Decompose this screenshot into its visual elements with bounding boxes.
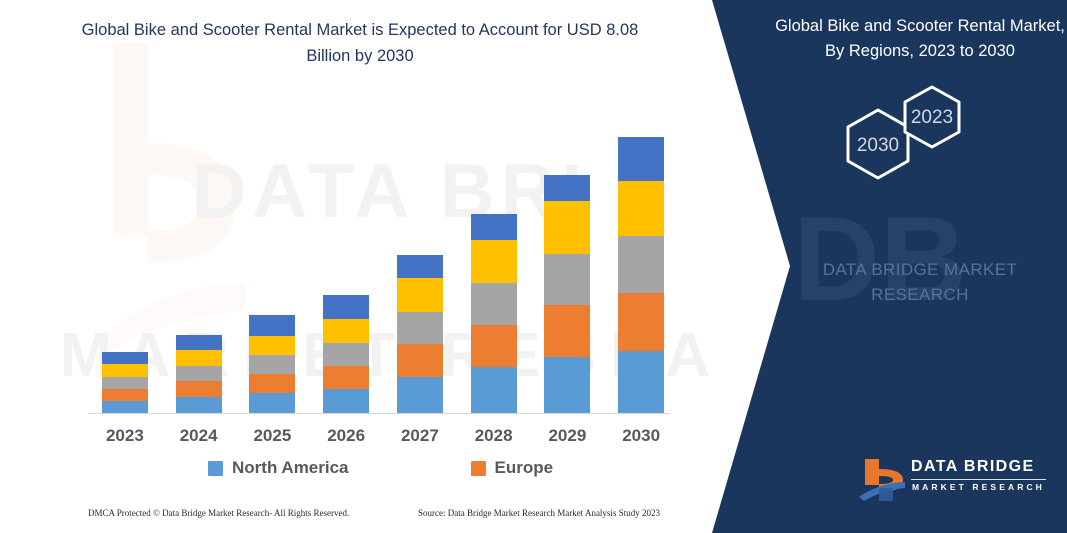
bar-segment [176,335,222,350]
bar-segment [544,175,590,201]
stacked-bar-group [88,120,678,413]
bar-segment [544,201,590,254]
x-axis-label-2028: 2028 [458,426,530,446]
stacked-bar [323,295,369,413]
bar-column-2030 [605,120,677,413]
stacked-bar [471,214,517,413]
bar-column-2025 [236,120,308,413]
x-axis-label-2029: 2029 [531,426,603,446]
right-panel-content: Global Bike and Scooter Rental Market, B… [780,0,1067,533]
bar-segment [176,366,222,381]
stacked-bar [102,352,148,413]
x-axis-label-2027: 2027 [384,426,456,446]
bar-segment [471,240,517,283]
right-panel-title: Global Bike and Scooter Rental Market, B… [775,14,1065,64]
hexagon-2023-label: 2023 [911,107,953,128]
x-axis-label-2030: 2030 [605,426,677,446]
infographic-canvas: DATA BRI MARKET RESEARCH Global Bike and… [0,0,1067,533]
bar-segment [102,389,148,401]
bar-segment [618,181,664,236]
bar-segment [323,389,369,413]
bar-column-2027 [384,120,456,413]
bar-segment [397,344,443,377]
hexagon-2030-label: 2030 [857,135,899,156]
bar-segment [323,343,369,366]
bar-segment [249,374,295,393]
x-axis-label-2023: 2023 [89,426,161,446]
brand-logo-divider [911,479,1046,480]
bar-segment [323,319,369,343]
bar-segment [544,305,590,357]
bar-segment [544,357,590,413]
bar-segment [618,137,664,181]
bar-column-2028 [458,120,530,413]
hexagon-badges: 2030 2023 [800,85,1050,210]
bar-segment [618,351,664,413]
bar-segment [618,293,664,351]
stacked-bar [618,137,664,413]
stacked-bar [544,175,590,413]
x-axis-label-2025: 2025 [236,426,308,446]
bar-column-2024 [163,120,235,413]
stacked-bar [176,335,222,413]
brand-logo-title: DATA BRIDGE [911,458,1035,476]
chart-panel: DATA BRI MARKET RESEARCH Global Bike and… [0,0,720,533]
bar-segment [618,236,664,293]
bar-column-2029 [531,120,603,413]
bar-segment [397,377,443,413]
legend-label: North America [232,458,349,478]
footer: DMCA Protected © Data Bridge Market Rese… [88,508,688,518]
x-axis-label-2026: 2026 [310,426,382,446]
legend-label: Europe [495,458,554,478]
bar-segment [471,325,517,367]
bar-segment [544,254,590,305]
footer-dmca: DMCA Protected © Data Bridge Market Rese… [88,508,418,518]
bar-segment [471,214,517,240]
legend-item-europe[interactable]: Europe [471,458,554,478]
bar-segment [249,336,295,355]
bar-segment [471,283,517,325]
bar-segment [323,295,369,319]
legend-swatch-icon [471,461,486,476]
legend-item-north-america[interactable]: North America [208,458,349,478]
x-axis-line [88,413,670,414]
bar-segment [102,364,148,377]
chart-legend: North AmericaEurope [88,455,688,481]
bar-segment [397,312,443,344]
bar-segment [176,350,222,366]
brand-logo-subtitle: MARKET RESEARCH [912,482,1045,492]
bar-segment [397,278,443,312]
bar-segment [397,255,443,278]
bar-segment [471,367,517,413]
bar-segment [249,393,295,413]
legend-swatch-icon [208,461,223,476]
brand-logo: DATA BRIDGE MARKET RESEARCH [855,455,1060,503]
footer-source: Source: Data Bridge Market Research Mark… [418,508,688,518]
bar-segment [102,352,148,364]
bar-segment [176,381,222,397]
right-panel-watermark: DATA BRIDGE MARKET RESEARCH [775,258,1065,307]
x-axis-labels: 20232024202520262027202820292030 [88,426,678,446]
bar-segment [249,355,295,374]
stacked-bar [397,255,443,413]
bar-segment [102,377,148,389]
bar-column-2026 [310,120,382,413]
bar-segment [249,315,295,336]
x-axis-label-2024: 2024 [163,426,235,446]
bar-column-2023 [89,120,161,413]
bar-segment [102,401,148,413]
stacked-bar [249,315,295,413]
page-title: Global Bike and Scooter Rental Market is… [60,18,660,69]
bar-segment [323,366,369,389]
bar-segment [176,397,222,413]
